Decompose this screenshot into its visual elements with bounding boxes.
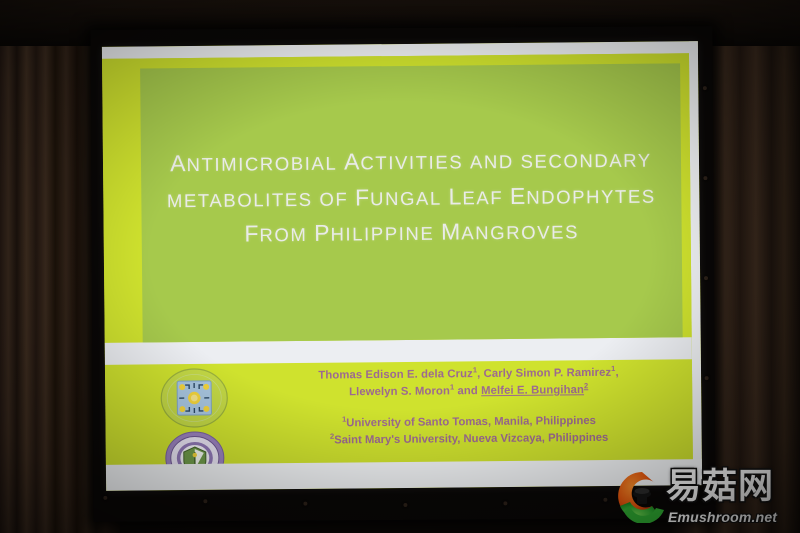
affiliation-block: 1University of Santo Tomas, Manila, Phil… [255, 412, 682, 450]
author-sup-4: 2 [584, 381, 588, 390]
affiliation-2-text: Saint Mary's University, Nueva Vizcaya, … [334, 432, 608, 447]
emushroom-circle-logo-icon [614, 469, 670, 523]
authors-block: Thomas Edison E. dela Cruz1, Carly Simon… [255, 363, 683, 450]
watermark-english-text: Emushroom.net [668, 509, 777, 525]
author-name-1: Thomas Edison E. dela Cruz [318, 368, 473, 381]
author-conjunction: and [454, 385, 481, 397]
affiliation-2: 2Saint Mary's University, Nueva Vizcaya,… [256, 429, 683, 450]
university-of-santo-tomas-seal-icon [157, 368, 232, 429]
title-line-2: METABOLITES OF FUNGAL LEAF ENDOPHYTES [141, 177, 681, 218]
title-line-1: ANTIMICROBIAL ACTIVITIES AND SECONDARY [141, 141, 681, 182]
author-name-2: , Carly Simon P. Ramirez [477, 367, 611, 380]
slide-title-panel: ANTIMICROBIAL ACTIVITIES AND SECONDARY M… [140, 63, 683, 342]
presentation-slide: ANTIMICROBIAL ACTIVITIES AND SECONDARY M… [102, 41, 702, 491]
title-line-3: FROM PHILIPPINE MANGROVES [142, 213, 682, 254]
watermark-chinese-text: 易菇网 [666, 458, 774, 509]
author-name-4: Melfei E. Bungihan [481, 384, 584, 397]
affiliation-1-text: University of Santo Tomas, Manila, Phili… [346, 415, 596, 429]
photo-stage: ANTIMICROBIAL ACTIVITIES AND SECONDARY M… [0, 0, 800, 533]
author-line-1-comma: , [615, 367, 618, 379]
slide-author-area: Thomas Edison E. dela Cruz1, Carly Simon… [105, 359, 693, 465]
page-title: ANTIMICROBIAL ACTIVITIES AND SECONDARY M… [141, 141, 682, 253]
slide-body: ANTIMICROBIAL ACTIVITIES AND SECONDARY M… [102, 53, 693, 465]
site-watermark: 易菇网 Emushroom.net [614, 467, 792, 529]
author-name-3: Llewelyn S. Moron [349, 385, 450, 398]
